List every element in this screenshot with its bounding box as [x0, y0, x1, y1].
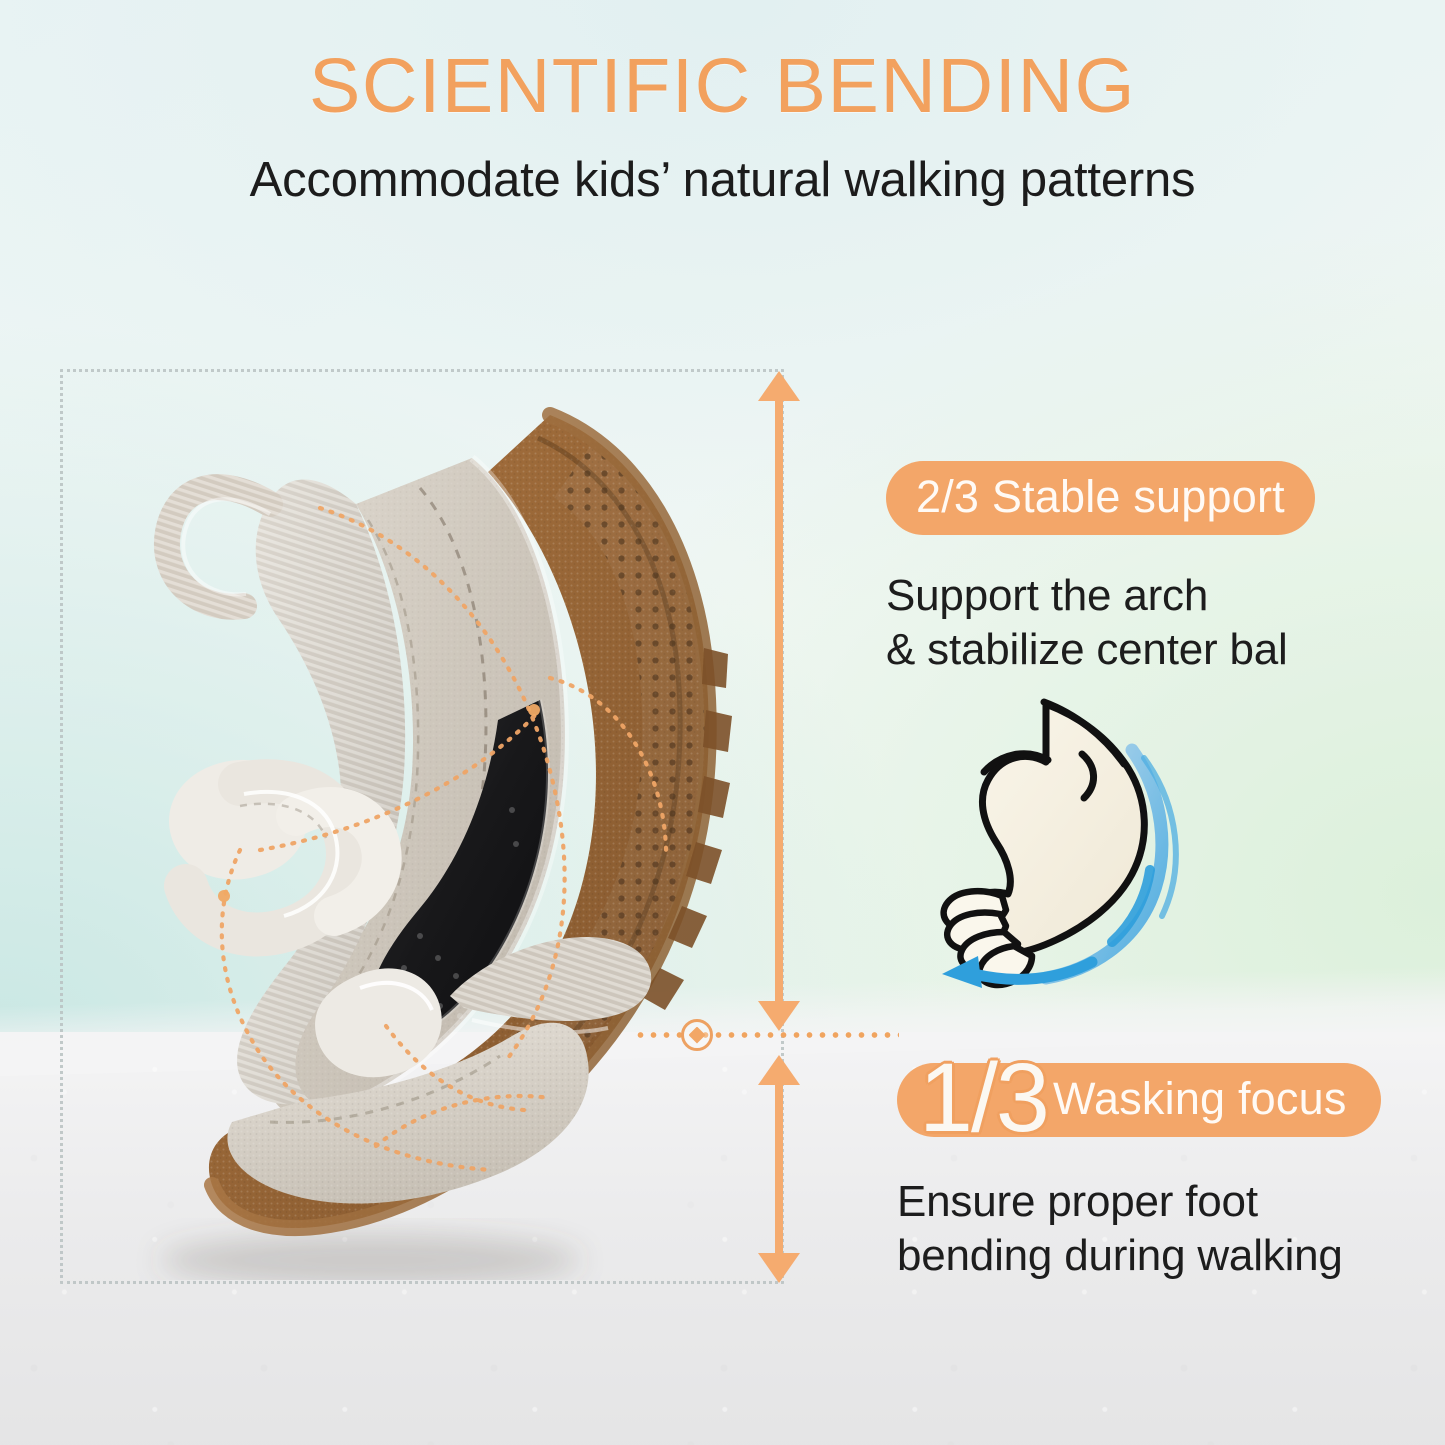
badge-wasking-focus: 1/3 Wasking focus [897, 1063, 1381, 1137]
arrow-head-down-icon [758, 1001, 800, 1031]
kids-shoe-bent-side-view [120, 380, 760, 1280]
callout-stable-support-body: Support the arch & stabilize center bal [886, 569, 1406, 676]
flex-point-node [681, 1019, 713, 1051]
callout-line: Support the arch [886, 569, 1406, 623]
arrow-shaft [775, 1077, 783, 1261]
callout-stable-support: 2/3 Stable support Support the arch & st… [886, 461, 1406, 676]
callout-line: & stabilize center bal [886, 623, 1406, 677]
one-third-two-thirds-split-line [634, 1032, 899, 1038]
page-subtitle: Accommodate kids’ natural walking patter… [0, 154, 1445, 208]
callout-wasking-focus-body: Ensure proper foot bending during walkin… [897, 1175, 1417, 1282]
badge-label: Wasking focus [1053, 1073, 1347, 1124]
badge-fraction: 1/3 [919, 1054, 1048, 1141]
callout-wasking-focus: 1/3 Wasking focus Ensure proper foot ben… [897, 1063, 1417, 1282]
arrow-head-down-icon [758, 1253, 800, 1283]
infographic-canvas: SCIENTIFIC BENDING Accommodate kids’ nat… [0, 0, 1445, 1445]
callout-line: bending during walking [897, 1229, 1417, 1283]
arrow-shaft [775, 393, 783, 1009]
callout-line: Ensure proper foot [897, 1175, 1417, 1229]
badge-stable-support: 2/3 Stable support [886, 461, 1315, 535]
two-thirds-dimension-arrow [744, 371, 814, 1031]
headline-block: SCIENTIFIC BENDING Accommodate kids’ nat… [0, 46, 1445, 208]
page-title: SCIENTIFIC BENDING [0, 46, 1445, 128]
foot-flex-illustration [896, 688, 1196, 993]
one-third-dimension-arrow [744, 1055, 814, 1283]
